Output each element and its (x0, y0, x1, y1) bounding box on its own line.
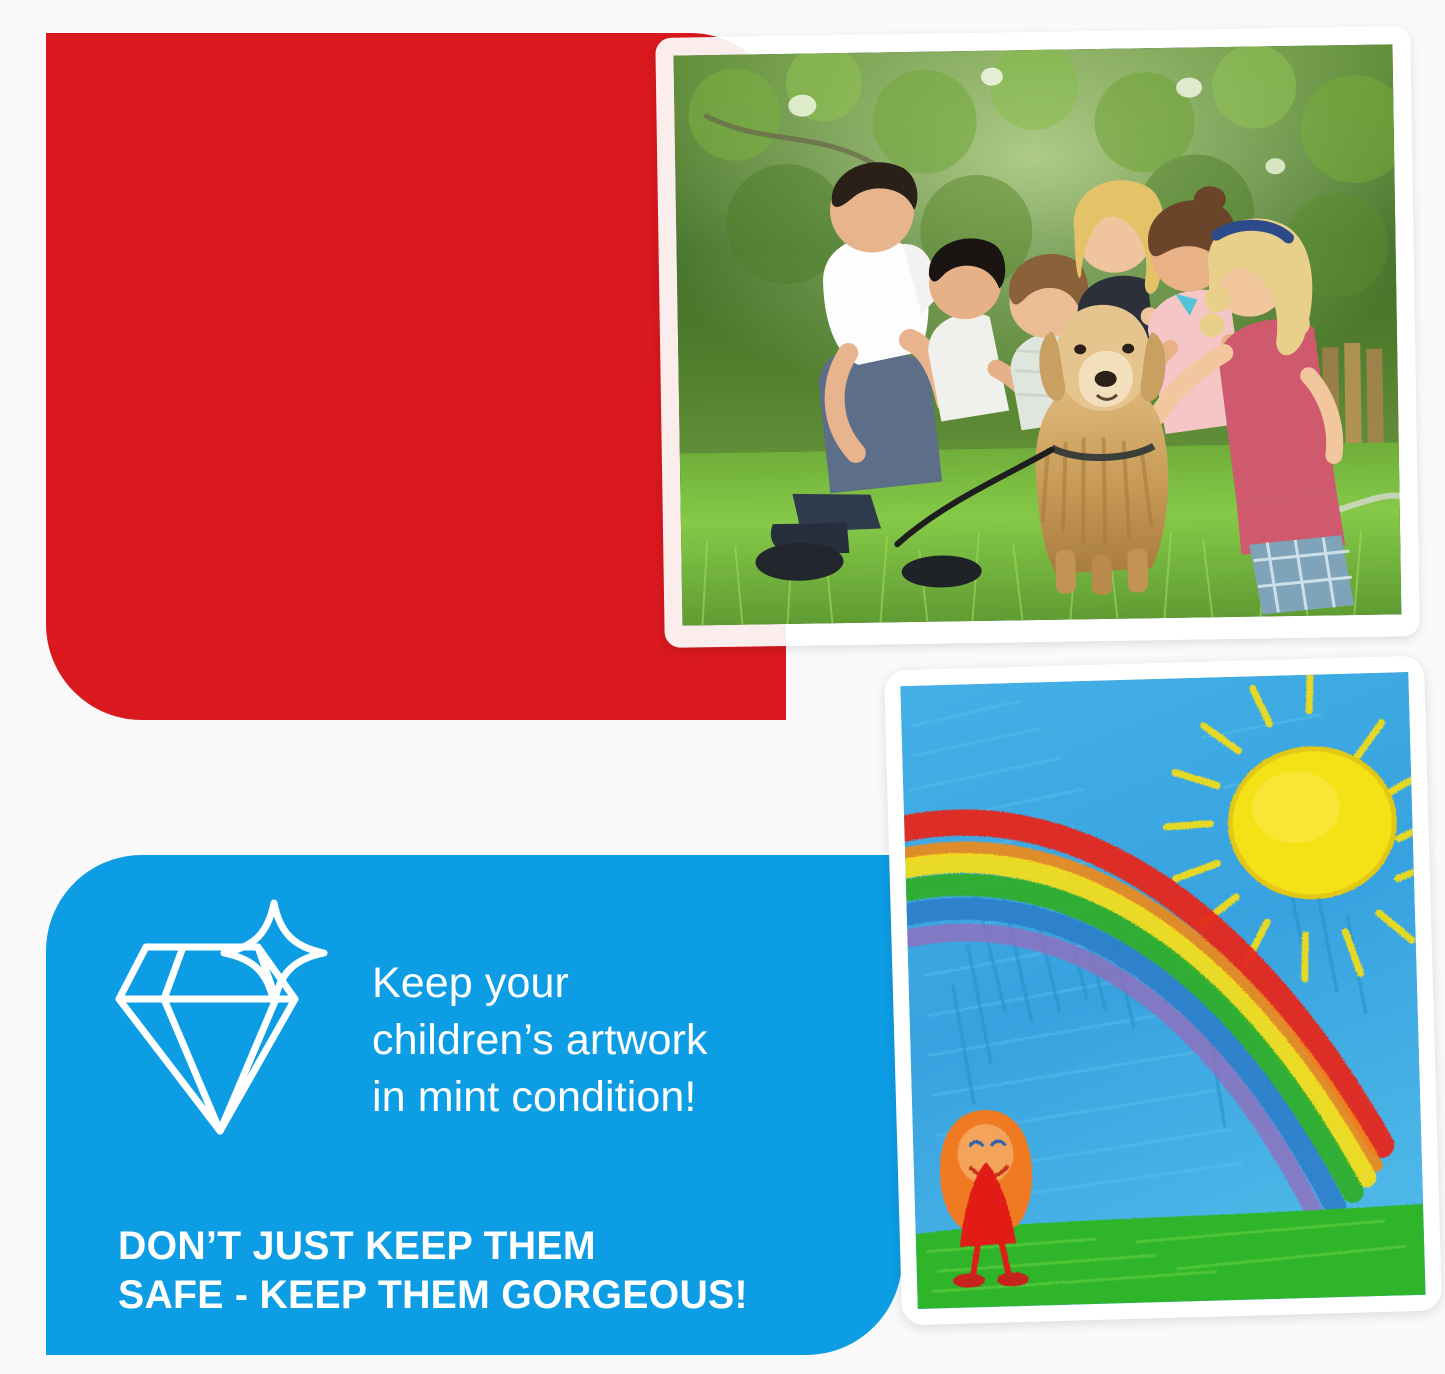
blue-subtext-line-3: in mint condition! (372, 1069, 872, 1126)
family-dog-photo-card (655, 26, 1419, 648)
blue-subtext-line-1: Keep your (372, 955, 872, 1012)
blue-panel-subtext: Keep your children’s artwork in mint con… (372, 955, 872, 1127)
blue-panel-tagline: DON’T JUST KEEP THEM SAFE - KEEP THEM GO… (118, 1222, 882, 1320)
diamond-sparkle-icon (108, 895, 336, 1145)
childrens-drawing-card (884, 656, 1442, 1326)
childrens-crayon-drawing (900, 672, 1425, 1309)
tagline-line-1: DON’T JUST KEEP THEM (118, 1222, 882, 1271)
promo-page: KEEP IT PRISTINE Some things are importa… (0, 0, 1445, 1374)
tagline-line-2: SAFE - KEEP THEM GORGEOUS! (118, 1271, 882, 1320)
blue-subtext-line-2: children’s artwork (372, 1012, 872, 1069)
family-dog-photo (674, 44, 1402, 625)
